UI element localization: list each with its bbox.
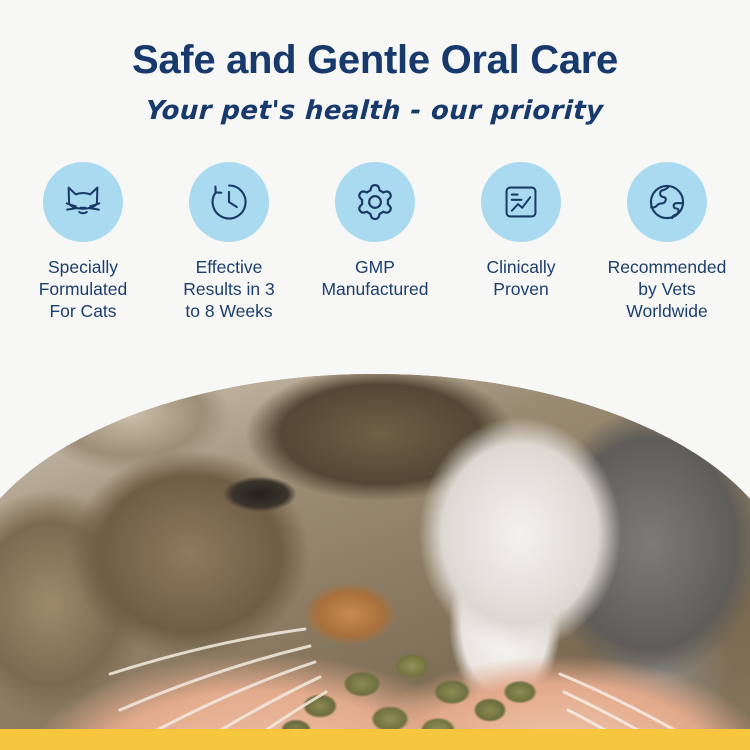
chart-report-icon <box>500 181 542 223</box>
feature-item-clinically-proven: Clinically Proven <box>451 162 591 300</box>
page-subtitle: Your pet's health - our priority <box>0 80 750 126</box>
feature-label: Effective Results in 3 to 8 Weeks <box>183 256 274 323</box>
clock-arrow-icon <box>207 180 251 224</box>
infographic-page: Safe and Gentle Oral Care Your pet's hea… <box>0 0 750 750</box>
feature-label: Clinically Proven <box>486 256 555 300</box>
feature-label: GMP Manufactured <box>321 256 428 300</box>
bottom-accent-bar <box>0 729 750 750</box>
feature-item-gmp-manufactured: GMP Manufactured <box>305 162 445 300</box>
hero-photo-cats-eating-from-hand <box>0 374 750 730</box>
badge-circle <box>189 162 269 242</box>
feature-label: Recommended by Vets Worldwide <box>608 256 727 323</box>
cat-face-icon <box>60 179 106 225</box>
header: Safe and Gentle Oral Care Your pet's hea… <box>0 0 750 150</box>
badge-circle <box>481 162 561 242</box>
feature-item-effective-results: Effective Results in 3 to 8 Weeks <box>159 162 299 323</box>
page-title: Safe and Gentle Oral Care <box>0 0 750 80</box>
badge-circle <box>335 162 415 242</box>
hero-photo-container <box>0 360 750 730</box>
globe-icon <box>645 180 689 224</box>
gear-icon <box>353 180 397 224</box>
arch-mask <box>0 374 750 730</box>
badge-circle <box>627 162 707 242</box>
feature-item-recommended-by-vets: Recommended by Vets Worldwide <box>597 162 737 323</box>
whisker-strokes <box>0 374 750 730</box>
feature-label: Specially Formulated For Cats <box>39 256 128 323</box>
feature-item-specially-formulated: Specially Formulated For Cats <box>13 162 153 323</box>
badge-circle <box>43 162 123 242</box>
feature-strip: Specially Formulated For Cats Effective … <box>0 162 750 323</box>
